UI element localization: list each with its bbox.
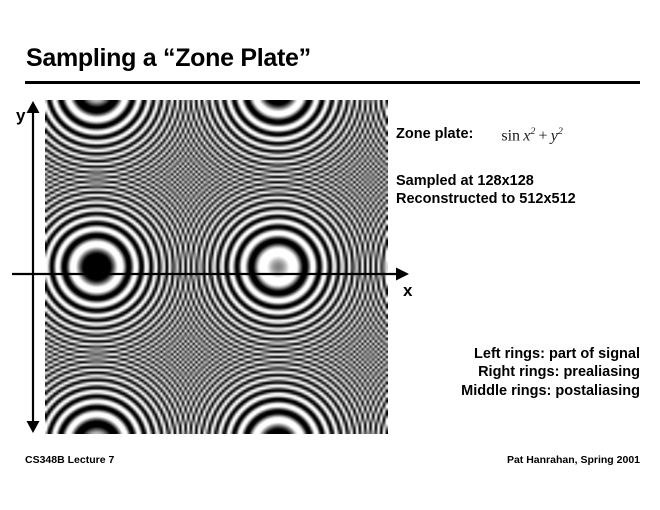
zone-plate-definition: Zone plate:sin x2 + y2 [396,126,646,145]
y-axis-arrow-up-icon [27,101,40,113]
y-axis-label: y [16,107,25,124]
zone-plate-figure [45,100,388,434]
x-axis-arrow-icon [396,268,409,281]
ring-legend: Left rings: part of signal Right rings: … [348,345,640,400]
sampling-line-1: Sampled at 128x128 [396,173,648,191]
ring-legend-left: Left rings: part of signal [348,345,640,363]
x-axis-label: x [403,282,412,299]
sampling-info: Sampled at 128x128 Reconstructed to 512x… [396,173,648,208]
zone-plate-image [45,100,388,434]
zone-plate-term-label: Zone plate: [396,126,473,142]
formula-exp-x: 2 [530,126,535,137]
sampling-line-2: Reconstructed to 512x512 [396,191,648,209]
page-title: Sampling a “Zone Plate” [26,44,311,73]
footer-lecture-label: CS348B Lecture 7 [25,454,114,466]
zone-plate-formula: sin x2 + y2 [501,126,562,145]
y-axis-arrow-down-icon [27,421,40,433]
formula-exp-y: 2 [558,126,563,137]
footer-author-label: Pat Hanrahan, Spring 2001 [507,454,640,466]
ring-legend-middle: Middle rings: postaliasing [348,382,640,400]
formula-operator: + [538,127,547,144]
formula-var-y: y [551,127,558,144]
ring-legend-right: Right rings: prealiasing [348,363,640,381]
formula-function: sin [501,127,520,144]
title-divider [25,81,640,84]
